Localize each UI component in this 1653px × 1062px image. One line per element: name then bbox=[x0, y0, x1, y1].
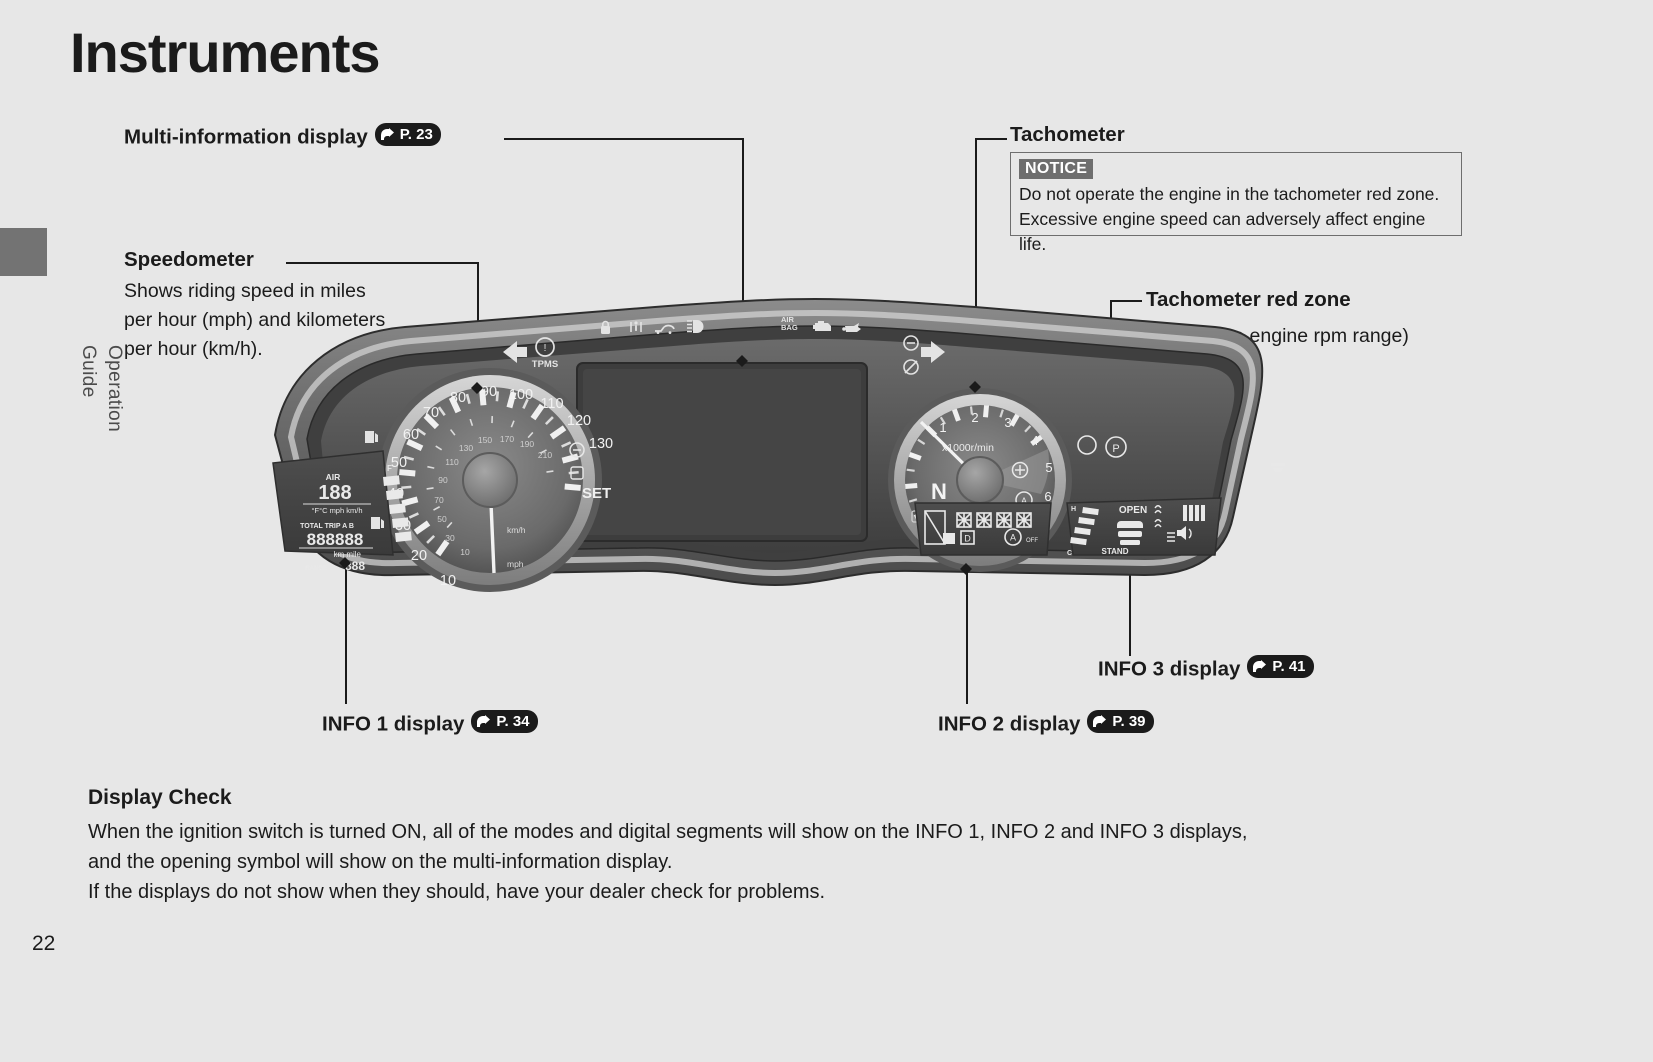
svg-text:D: D bbox=[964, 534, 971, 544]
notice-line-2: Excessive engine speed can adversely aff… bbox=[1019, 207, 1453, 257]
info3-temp-cold: C bbox=[1067, 550, 1072, 557]
svg-text:110: 110 bbox=[445, 457, 459, 467]
svg-text:70: 70 bbox=[434, 495, 444, 505]
info1-air-value: 188 bbox=[318, 482, 351, 504]
svg-text:BAG: BAG bbox=[781, 323, 798, 332]
svg-text:60: 60 bbox=[403, 427, 419, 443]
svg-text:80: 80 bbox=[450, 390, 466, 406]
callout-info3-label: INFO 3 display bbox=[1098, 658, 1240, 681]
info3-open-label: OPEN bbox=[1119, 505, 1147, 516]
callout-info1-label: INFO 1 display bbox=[322, 713, 464, 736]
page-ref-badge-multi-info[interactable]: P. 23 bbox=[375, 123, 441, 146]
svg-text:70: 70 bbox=[423, 405, 439, 421]
info1-units-row: °F°C mph km/h bbox=[311, 506, 362, 515]
page-ref-info3: P. 41 bbox=[1272, 658, 1305, 675]
arrow-right-icon bbox=[1252, 660, 1269, 674]
svg-text:110: 110 bbox=[540, 396, 563, 412]
info1-odo-value: 888888 bbox=[307, 530, 364, 549]
fuel-full-label: F bbox=[387, 464, 392, 473]
arrow-right-icon bbox=[476, 715, 493, 729]
info1-odo-label: TOTAL TRIP A B bbox=[300, 523, 354, 530]
svg-text:1: 1 bbox=[939, 420, 946, 435]
info3-temp-hot: H bbox=[1071, 506, 1076, 513]
svg-text:A: A bbox=[1010, 533, 1016, 543]
instrument-cluster-illustration: AIR BAG ! TPMS bbox=[215, 255, 1285, 655]
info2-display: D A OFF bbox=[915, 503, 1051, 555]
page-title: Instruments bbox=[70, 20, 380, 85]
svg-text:4: 4 bbox=[1031, 433, 1038, 448]
svg-text:30: 30 bbox=[445, 533, 455, 543]
svg-text:P: P bbox=[1112, 443, 1119, 455]
callout-info2-label: INFO 2 display bbox=[938, 713, 1080, 736]
notice-tag: NOTICE bbox=[1019, 159, 1093, 179]
gear-position-indicator: N bbox=[931, 479, 947, 504]
svg-text:120: 120 bbox=[567, 413, 591, 429]
arrow-right-icon bbox=[380, 128, 397, 142]
speedometer-mph-unit: mph bbox=[507, 559, 524, 569]
svg-text:150: 150 bbox=[478, 435, 492, 445]
speedometer-hub bbox=[463, 453, 517, 507]
display-check-line1: When the ignition switch is turned ON, a… bbox=[88, 817, 1548, 847]
tachometer-hub bbox=[957, 457, 1003, 503]
callout-info1-display: INFO 1 displayP. 34 bbox=[322, 710, 538, 737]
svg-text:130: 130 bbox=[459, 443, 473, 453]
svg-text:TPMS: TPMS bbox=[532, 359, 558, 370]
svg-text:210: 210 bbox=[538, 450, 552, 460]
svg-text:2: 2 bbox=[971, 410, 978, 425]
page-ref-info2: P. 39 bbox=[1112, 713, 1145, 730]
callout-info2-display: INFO 2 displayP. 39 bbox=[938, 710, 1154, 737]
notice-line-1: Do not operate the engine in the tachome… bbox=[1019, 182, 1453, 207]
manual-page: Operation Guide Instruments Multi-inform… bbox=[0, 0, 1653, 1062]
svg-text:5: 5 bbox=[1045, 460, 1052, 475]
speedometer-kmh-unit: km/h bbox=[507, 525, 526, 535]
svg-text:10: 10 bbox=[440, 573, 456, 589]
info1-air-label: AIR bbox=[326, 472, 341, 482]
speedometer-set-label: SET bbox=[582, 485, 611, 502]
info1-odo-unit: km mile bbox=[333, 550, 361, 559]
info1-range-label: RANGE bbox=[305, 566, 327, 572]
page-ref-badge-info1[interactable]: P. 34 bbox=[471, 710, 537, 733]
sidebar-section-label: Operation Guide bbox=[0, 345, 127, 371]
svg-text:190: 190 bbox=[520, 439, 534, 449]
svg-text:6: 6 bbox=[1044, 489, 1051, 504]
svg-text:!: ! bbox=[544, 343, 547, 354]
svg-text:OFF: OFF bbox=[1026, 538, 1038, 544]
page-ref-multi-info: P. 23 bbox=[400, 126, 433, 143]
callout-multi-info-display: Multi-information displayP. 23 bbox=[124, 123, 441, 150]
svg-text:100: 100 bbox=[509, 387, 533, 403]
display-check-section: Display Check When the ignition switch i… bbox=[88, 786, 1548, 907]
info3-stand-label: STAND bbox=[1102, 547, 1129, 556]
display-check-heading: Display Check bbox=[88, 786, 1548, 810]
svg-text:50: 50 bbox=[437, 514, 447, 524]
svg-text:3: 3 bbox=[1004, 415, 1011, 430]
svg-text:10: 10 bbox=[460, 547, 470, 557]
leader-line-tachometer-h bbox=[975, 138, 1007, 140]
info3-display: H C OPEN STAND bbox=[1067, 498, 1221, 557]
page-number: 22 bbox=[32, 932, 55, 956]
svg-text:90: 90 bbox=[438, 475, 448, 485]
callout-tachometer-label: Tachometer bbox=[1010, 123, 1125, 147]
rider-seat-icon bbox=[1117, 521, 1143, 545]
page-ref-info1: P. 34 bbox=[496, 713, 529, 730]
svg-text:20: 20 bbox=[411, 548, 427, 564]
svg-text:130: 130 bbox=[589, 436, 613, 452]
svg-text:50: 50 bbox=[391, 455, 407, 471]
arrow-right-icon bbox=[1092, 715, 1109, 729]
svg-text:170: 170 bbox=[500, 434, 514, 444]
display-check-line2: and the opening symbol will show on the … bbox=[88, 847, 1548, 877]
display-check-line3: If the displays do not show when they sh… bbox=[88, 877, 1548, 907]
sidebar-section-tab bbox=[0, 228, 47, 276]
svg-text:90: 90 bbox=[481, 384, 497, 400]
page-ref-badge-info3[interactable]: P. 41 bbox=[1247, 655, 1313, 678]
leader-line-multi-info-h bbox=[504, 138, 742, 140]
notice-box: NOTICE Do not operate the engine in the … bbox=[1010, 152, 1462, 236]
callout-multi-info-label: Multi-information display bbox=[124, 126, 368, 149]
coolant-temp-icon bbox=[1265, 461, 1285, 473]
callout-info3-display: INFO 3 displayP. 41 bbox=[1098, 655, 1314, 682]
page-ref-badge-info2[interactable]: P. 39 bbox=[1087, 710, 1153, 733]
